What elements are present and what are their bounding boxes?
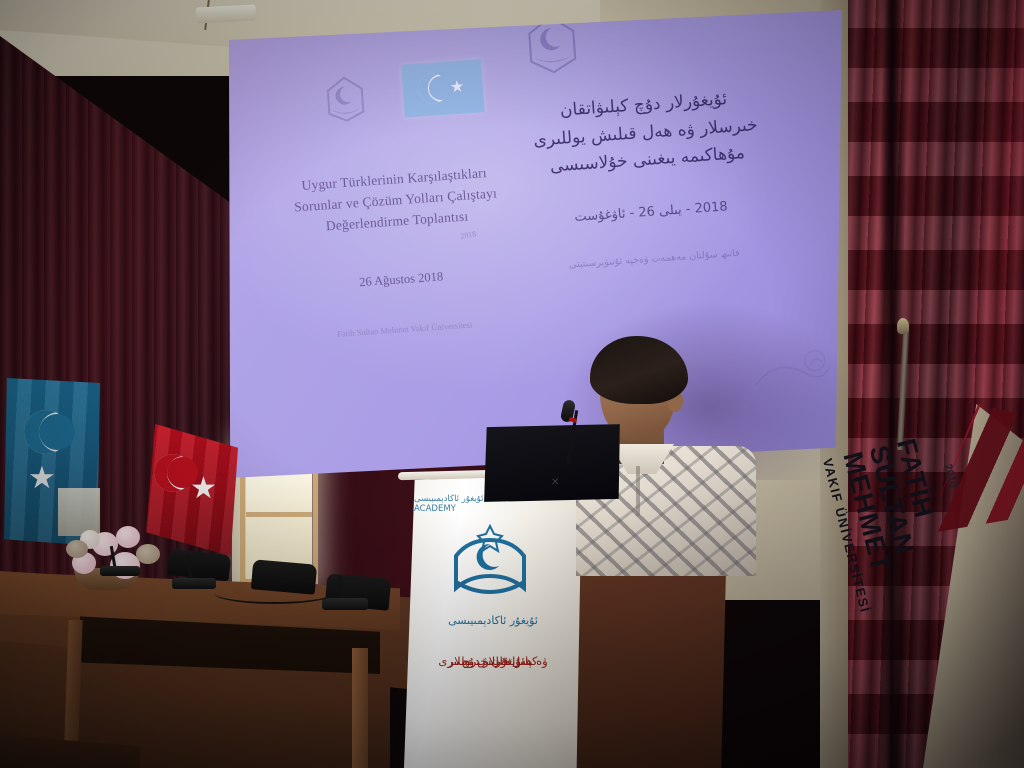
rose-bouquet	[66, 522, 170, 590]
crescent-icon	[24, 410, 68, 454]
slide-swoosh-decoration	[752, 340, 834, 399]
slide-content: ★ Uygur Türklerinin Karşılaştıkları Soru…	[208, 0, 857, 499]
speaker-hair	[590, 336, 688, 404]
star-icon: ★	[449, 79, 464, 96]
podium-banner: ئۇيغۇر ئاكادېمىيىسى - UYGHUR ACADEMY ئۇي…	[404, 474, 582, 768]
podium-banner-event-line3: ۋە ھەل قىلىش يوللىرى	[404, 652, 582, 670]
laptop-logo-icon: ✕	[551, 477, 559, 488]
star-icon: ★	[28, 462, 56, 493]
crescent-icon	[417, 73, 449, 105]
slide-uyghur-block: ئۇيغۇرلار دۇچ كېلىۋاتقان خىرسلار ۋە ھەل …	[504, 82, 793, 274]
slide-uyghur-organization: فاتىھ سۇلتان مەھمەت ۋەخپە ئۇنىۋېرسىتېتى	[515, 243, 793, 273]
screen-roller	[196, 4, 257, 23]
banner-finial	[897, 318, 909, 334]
crescent-icon	[154, 454, 192, 492]
table-microphone-base	[172, 578, 216, 589]
window-bar	[246, 512, 312, 517]
east-turkestan-flag-icon: ★	[401, 59, 485, 117]
uyghur-academy-book-logo-icon	[444, 520, 536, 602]
slide-uyghur-date: 2018 - يىلى 26 - ئاۋغۇست	[512, 195, 790, 229]
podium-banner-content: ئۇيغۇر ئاكادېمىيىسى - UYGHUR ACADEMY ئۇي…	[404, 474, 582, 768]
slide-turkish-organization: Fatih Sultan Mehmet Vakıf Üniversitesi	[280, 315, 530, 342]
table-microphone-base	[100, 566, 140, 576]
slide-turkish-date: 26 Ağustos 2018	[276, 263, 526, 295]
photo-scene: ★ Uygur Türklerinin Karşılaştıkları Soru…	[0, 0, 1024, 768]
table-cable	[214, 582, 334, 604]
table-microphone-base	[322, 598, 368, 610]
uyghur-academy-watermark-icon	[315, 71, 376, 127]
slide-turkish-block: Uygur Türklerinin Karşılaştıkları Sorunl…	[269, 161, 530, 343]
star-icon: ★	[190, 474, 217, 504]
foliage	[66, 540, 88, 558]
laptop: ✕	[484, 424, 620, 502]
foliage	[136, 544, 160, 564]
podium-banner-org-name: ئۇيغۇر ئاكادېمىيىسى	[404, 614, 582, 627]
rose	[116, 526, 140, 548]
head-table-leg	[352, 648, 368, 768]
